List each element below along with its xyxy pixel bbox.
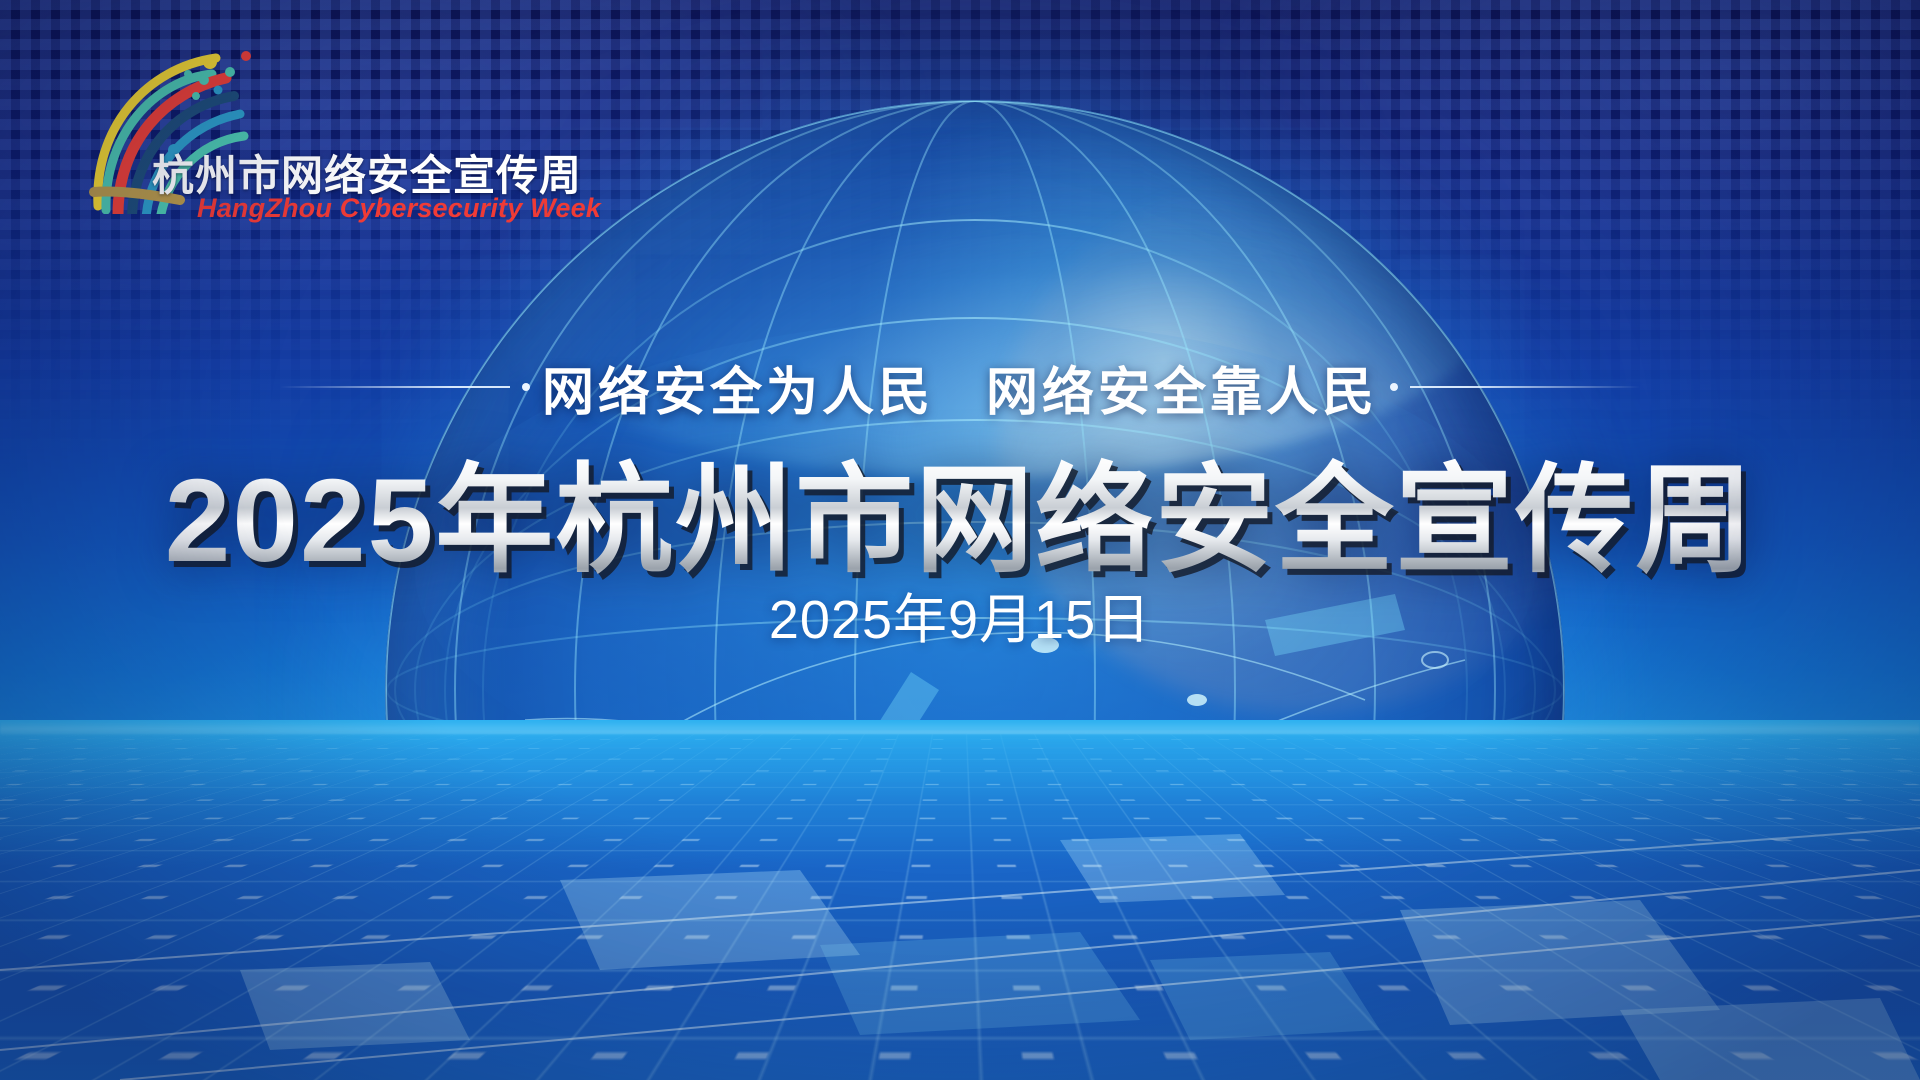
slogan-row: 网络安全为人民 网络安全靠人民 [0, 352, 1920, 422]
logo-english-name: HangZhou Cybersecurity Week [197, 193, 601, 224]
slogan-rule-left [280, 386, 510, 388]
slogan-rule-right [1410, 386, 1640, 388]
floor-light-panels [0, 720, 1920, 1080]
tech-grid-floor [0, 720, 1920, 1080]
slogan-left: 网络安全为人民 [542, 350, 934, 425]
slogan-dot-left [522, 383, 530, 391]
event-date: 2025年9月15日 [0, 575, 1920, 654]
slogan-dot-right [1390, 383, 1398, 391]
page-title: 2025年杭州市网络安全宣传周 [0, 455, 1920, 587]
poster-canvas: 杭州市网络安全宣传周 HangZhou Cybersecurity Week 网… [0, 0, 1920, 1080]
event-logo: 杭州市网络安全宣传周 HangZhou Cybersecurity Week [84, 44, 524, 214]
slogan-right: 网络安全靠人民 [986, 350, 1378, 425]
floor-horizon-line [0, 730, 1920, 734]
